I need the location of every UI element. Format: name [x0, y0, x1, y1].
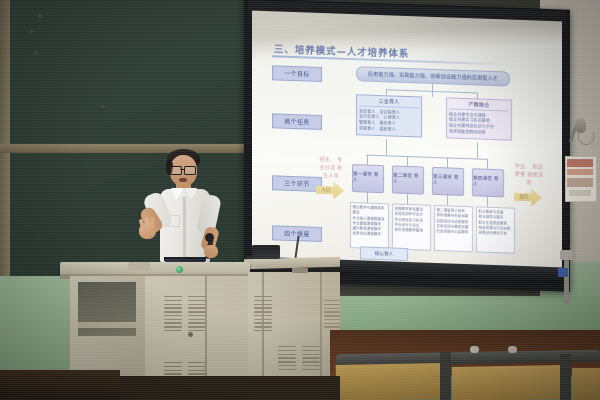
dimension-box-1: 理论教学与课程体系建设 专业核心课程群建设 专业基础课程模块 通识教育课程模块 …: [350, 202, 389, 249]
presentation-slide: 三、培养模式—人才培养体系 一个目标 两个任务 三个环节 四个维度 应用能力强、…: [256, 17, 558, 268]
exit-arrow-icon: 出口: [514, 188, 542, 207]
desk-knob: [508, 346, 517, 353]
poster-band: [567, 159, 593, 167]
dimension-box-3: 第二课堂育人体系 学科竞赛与科技创新 社团活动与志愿服务 文体活动与素质拓展 社…: [434, 205, 473, 252]
stage-chip-links: 三个环节: [272, 175, 322, 192]
foreground-dark-desk: [0, 370, 120, 400]
microphone-head: [205, 233, 214, 242]
dimension-box-2: 实践教学体系建设 实验实训环节设计 专业综合实习实训 毕业设计与论文 校外实践教…: [392, 203, 431, 250]
screen-mount-knob: [560, 250, 573, 260]
vent-louver: [324, 300, 340, 330]
slide-entry-text: 招生、 专业分流 新生入学: [318, 157, 344, 181]
ceiling-camera-icon: [575, 118, 586, 133]
podium-handle: [128, 262, 150, 270]
desk-surface: [336, 363, 445, 400]
connector-line: [487, 195, 488, 207]
desk-divider-post: [440, 352, 451, 400]
slide-legend-box: 核心育人: [360, 246, 408, 261]
presenter-mouth: [179, 178, 187, 182]
dimension-item: 理论教学与课程体系建设: [353, 205, 387, 217]
task-item: 双师双能型教师培养: [449, 128, 509, 136]
chalk-mark: [38, 14, 42, 18]
presenter-finger: [150, 217, 154, 228]
dimension-box-4: 职业素养与发展 就业指导与服务 职业生涯规划教育 校友资源与行业对接 创新创业孵…: [476, 206, 515, 253]
poster-band: [567, 169, 593, 175]
poster-band: [567, 178, 593, 187]
connector-line: [407, 192, 408, 204]
desk-surface: [452, 365, 565, 400]
poster-band: [569, 190, 591, 196]
desk-divider-post: [560, 354, 571, 400]
podium-shelf-board: [78, 322, 136, 328]
connector-line: [366, 155, 488, 160]
link-box-4: 第四课堂 育人: [472, 168, 504, 197]
glasses-icon: [184, 166, 196, 175]
connector-line: [367, 191, 368, 203]
connector-line: [407, 156, 408, 166]
connector-line: [477, 142, 478, 158]
glasses-bridge: [180, 169, 184, 170]
chalk-mark: [34, 50, 37, 55]
vent-louver: [188, 296, 206, 334]
shirt-placket: [183, 197, 186, 259]
connector-line: [487, 159, 488, 169]
exit-arrow-label: 出口: [519, 194, 528, 200]
task-box-quanyuan: 三全育人 全员育人 全过程育人 全方位育人 心理育人 管理育人 服务育人 实践育…: [356, 94, 422, 137]
link-box-2: 第二课堂 育人: [392, 165, 424, 194]
podium-equipment-box: [252, 245, 280, 259]
slide-goal-banner: 应用能力强、实践能力强、创新创业能力强的应用型人才: [356, 66, 510, 86]
vent-louver: [302, 346, 320, 372]
power-led-indicator: [176, 266, 183, 273]
vent-louver: [164, 296, 182, 334]
podium-brand-label: [292, 268, 308, 273]
task-box-title: 产教融合: [449, 100, 509, 111]
stage-chip-tasks: 两个任务: [272, 113, 322, 130]
connector-line: [386, 139, 387, 155]
stage-chip-goal: 一个目标: [272, 65, 322, 82]
screen-clip: [558, 268, 568, 277]
task-item: 实践育人 组织育人: [359, 125, 419, 133]
desk-knob: [470, 346, 479, 353]
floor-strip: [120, 376, 340, 400]
connector-line: [447, 157, 448, 167]
connector-line: [447, 193, 448, 205]
lecture-hall-photo: 三、培养模式—人才培养体系 一个目标 两个任务 三个环节 四个维度 应用能力强、…: [0, 0, 600, 400]
screen-support-pole: [564, 254, 569, 304]
slide-exit-text: 毕业、 就业质量 继续深造: [514, 164, 544, 188]
vent-louver: [278, 346, 296, 372]
presenter-right-hand: [204, 245, 218, 258]
glasses-icon: [170, 166, 182, 175]
desk-surface: [572, 368, 600, 400]
chalk-mark: [100, 105, 105, 108]
connector-line: [432, 82, 433, 97]
entry-arrow-label: 入口: [321, 187, 330, 193]
chalk-mark: [30, 30, 33, 33]
dimension-item: 校外实践教学基地: [395, 228, 429, 234]
dimension-item: 创新创业课程模块: [353, 231, 387, 237]
task-box-title: 三全育人: [359, 97, 419, 108]
task-box-chanjiao: 产教融合 校企共建专业与课程 校企共建实习实训基地 校企共建师资队伍与平台 双师…: [446, 97, 512, 140]
link-box-3: 第三课堂 育人: [432, 167, 464, 196]
dimension-item: 社会实践与公益服务: [437, 229, 471, 235]
vent-louver: [254, 296, 272, 334]
connector-line: [367, 155, 368, 165]
link-box-1: 第一课堂 育人: [352, 164, 384, 193]
